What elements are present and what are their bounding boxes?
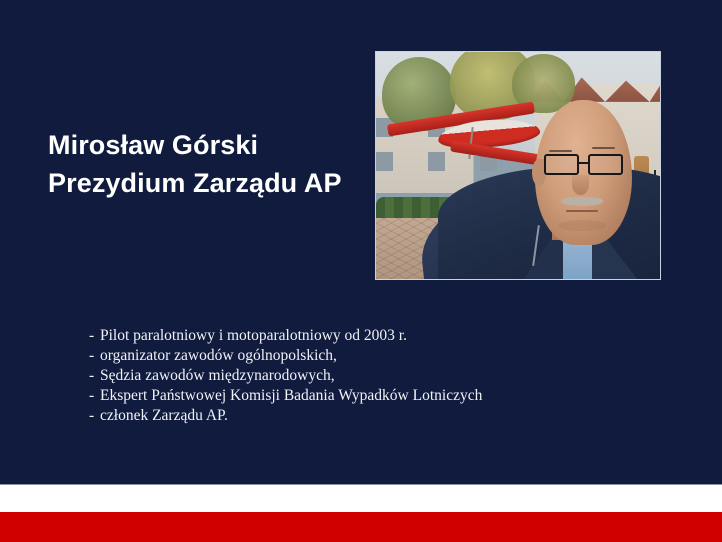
slide-title: Mirosław Górski Prezydium Zarządu AP	[48, 126, 378, 202]
bullet-marker: -	[89, 366, 100, 386]
list-item-label: Sędzia zawodów międzynarodowych,	[100, 366, 335, 386]
list-item: - Ekspert Państwowej Komisji Badania Wyp…	[89, 386, 609, 406]
list-item: - organizator zawodów ogólnopolskich,	[89, 346, 609, 366]
footer-band-white	[0, 485, 722, 512]
photo-content	[376, 52, 660, 279]
bullet-marker: -	[89, 326, 100, 346]
photo-glasses-lens	[544, 154, 579, 174]
title-line-role: Prezydium Zarządu AP	[48, 164, 378, 202]
list-item-label: Pilot paralotniowy i motoparalotniowy od…	[100, 326, 407, 346]
portrait-photo	[375, 51, 661, 280]
bullet-marker: -	[89, 386, 100, 406]
list-item-label: członek Zarządu AP.	[100, 406, 228, 426]
photo-glasses	[544, 154, 624, 174]
photo-mouth	[566, 210, 597, 212]
list-item: - członek Zarządu AP.	[89, 406, 609, 426]
list-item-label: Ekspert Państwowej Komisji Badania Wypad…	[100, 386, 482, 406]
photo-eyebrow	[549, 150, 572, 152]
bullet-marker: -	[89, 406, 100, 426]
footer-band-red	[0, 512, 722, 542]
photo-glasses-lens	[588, 154, 623, 174]
list-item: - Sędzia zawodów międzynarodowych,	[89, 366, 609, 386]
bullet-list: - Pilot paralotniowy i motoparalotniowy …	[89, 326, 609, 426]
title-line-name: Mirosław Górski	[48, 126, 378, 164]
photo-nose	[572, 175, 589, 195]
photo-glasses-bridge	[579, 162, 589, 164]
presentation-slide: Mirosław Górski Prezydium Zarządu AP	[0, 0, 722, 542]
bullet-marker: -	[89, 346, 100, 366]
list-item: - Pilot paralotniowy i motoparalotniowy …	[89, 326, 609, 346]
list-item-label: organizator zawodów ogólnopolskich,	[100, 346, 337, 366]
